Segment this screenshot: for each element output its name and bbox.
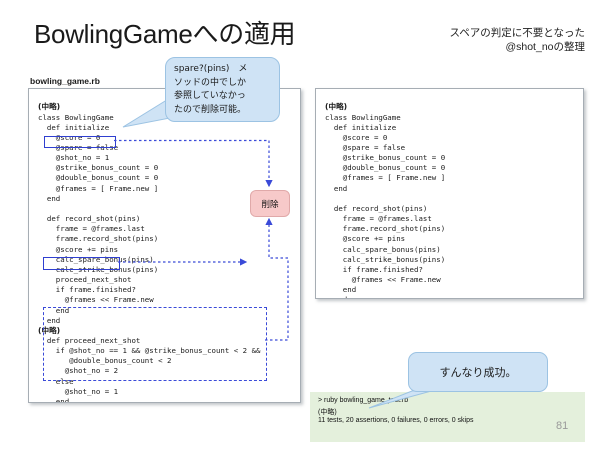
callout-spare-line-4: たので削除可能。 <box>174 104 274 118</box>
slide-subtitle: スペアの判定に不要となった @shot_noの整理 <box>390 26 585 54</box>
console-line-summary: 11 tests, 20 assertions, 0 failures, 0 e… <box>318 417 474 424</box>
callout-spare-text: spare?(pins) メ ソッドの中でしか 参照していなかっ たので削除可能… <box>174 63 274 117</box>
console-line-omitted: (中略) <box>318 407 337 417</box>
delete-action-box: 削除 <box>250 190 290 217</box>
delete-action-label: 削除 <box>251 191 289 216</box>
callout-spare-tail <box>122 96 170 128</box>
callout-spare-line-2: ソッドの中でしか <box>174 77 274 91</box>
highlight-proceed-next-shot-def <box>43 307 267 381</box>
subtitle-line-2: @shot_noの整理 <box>390 40 585 54</box>
highlight-proceed-next-shot-call <box>43 257 120 270</box>
callout-spare-bubble: spare?(pins) メ ソッドの中でしか 参照していなかっ たので削除可能… <box>165 57 280 122</box>
callout-spare-line-3: 参照していなかっ <box>174 90 274 104</box>
page-title: BowlingGameへの適用 <box>34 14 364 51</box>
file-name-caption: bowling_game.rb <box>30 76 100 86</box>
callout-spare-line-1: spare?(pins) メ <box>174 63 274 77</box>
after-code-text: (中略) class BowlingGame def initialize @s… <box>325 102 445 299</box>
highlight-shot-no-assignment <box>44 136 116 148</box>
bubble-success: すんなり成功。 <box>408 352 548 392</box>
bubble-success-label: すんなり成功。 <box>409 353 547 391</box>
page-number: 81 <box>556 420 568 432</box>
after-code-panel: (中略) class BowlingGame def initialize @s… <box>315 88 584 299</box>
subtitle-line-1: スペアの判定に不要となった <box>390 26 585 40</box>
